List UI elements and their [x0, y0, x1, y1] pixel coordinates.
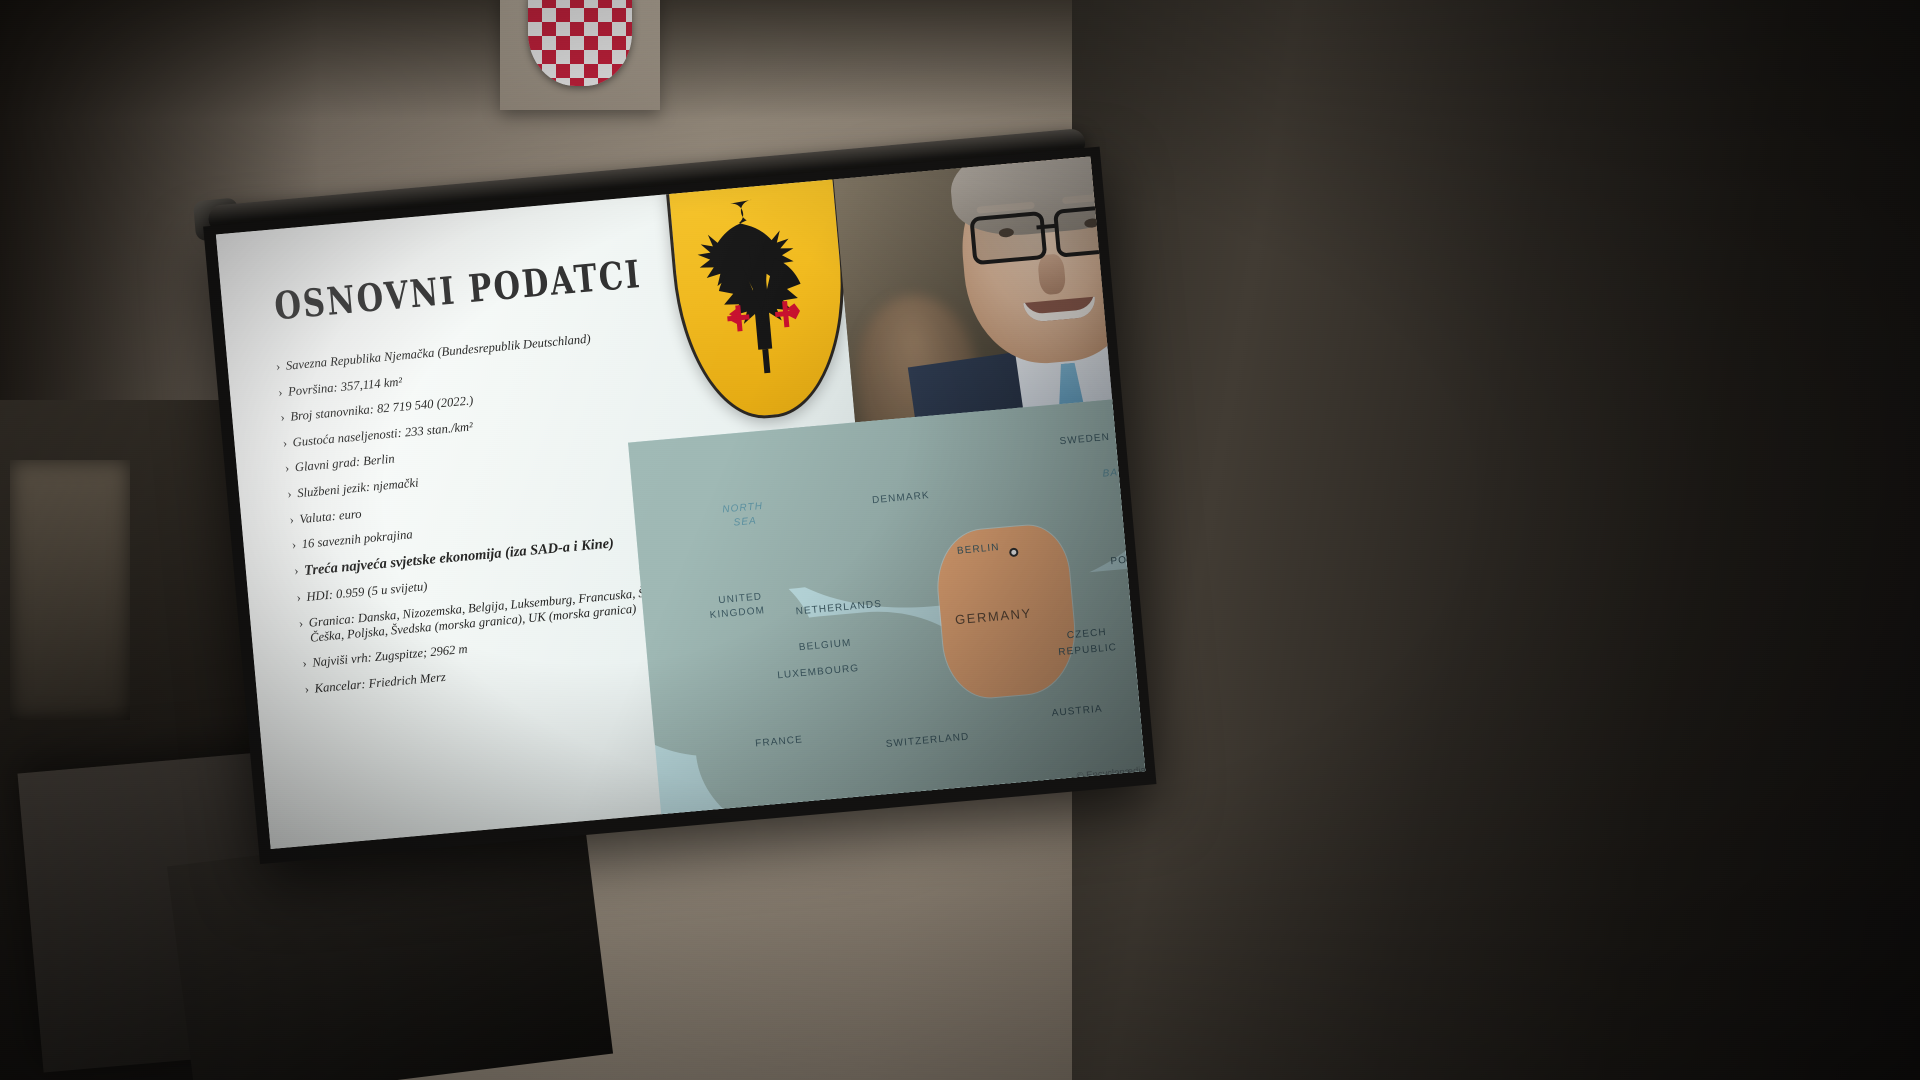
- wall-frame: [10, 460, 130, 720]
- screen-frame: OSNOVNI PODATCI: [203, 147, 1156, 864]
- map-label: SEA: [1120, 481, 1144, 494]
- room-photo-scene: OSNOVNI PODATCI: [0, 0, 1920, 1080]
- right-cabinetry: [1072, 0, 1920, 1080]
- screen-surface: OSNOVNI PODATCI: [216, 156, 1145, 849]
- slide-title: OSNOVNI PODATCI: [272, 251, 643, 329]
- germany-map-image: SWEDENNORTHSEADENMARKBALTICSEAUNITEDKING…: [628, 393, 1145, 823]
- projection-screen: OSNOVNI PODATCI: [96, 104, 1184, 893]
- map-label: BALTIC: [1102, 465, 1144, 480]
- croatian-coat-of-arms-icon: [528, 0, 632, 86]
- map-capital-marker: [1009, 547, 1019, 557]
- map-label: SEA: [733, 516, 757, 529]
- presentation-slide: OSNOVNI PODATCI: [216, 156, 1145, 849]
